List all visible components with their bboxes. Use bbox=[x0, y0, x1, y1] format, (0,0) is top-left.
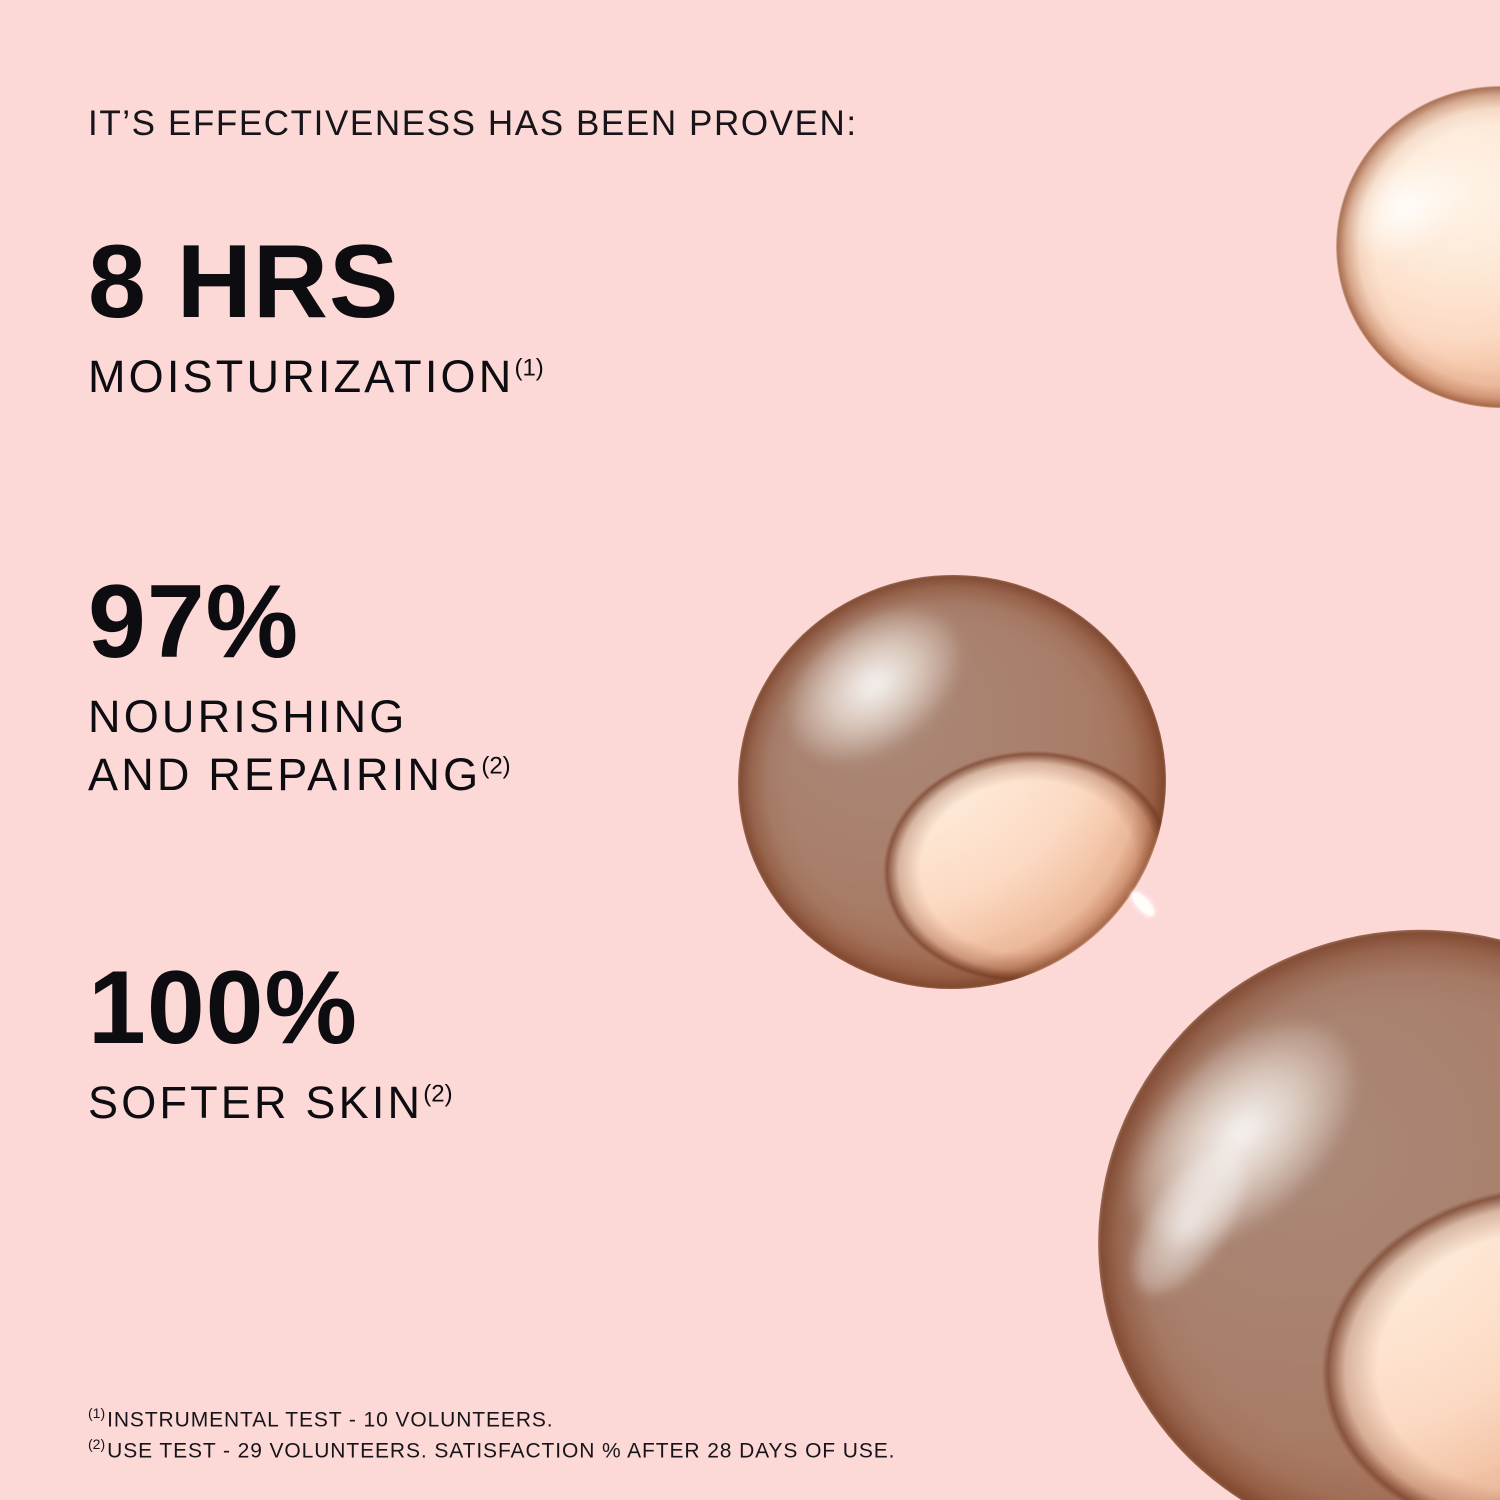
product-claims-poster: IT’S EFFECTIVENESS HAS BEEN PROVEN: 8 HR… bbox=[0, 0, 1500, 1500]
footnote-marker: (1) bbox=[88, 1405, 105, 1421]
stat-reference-marker: (1) bbox=[514, 355, 543, 382]
stat-label-line-1: NOURISHING bbox=[88, 691, 408, 742]
footnote-text: USE TEST - 29 VOLUNTEERS. SATISFACTION %… bbox=[107, 1440, 895, 1463]
footnotes: (1)INSTRUMENTAL TEST - 10 VOLUNTEERS. (2… bbox=[88, 1404, 895, 1467]
footnote-text: INSTRUMENTAL TEST - 10 VOLUNTEERS. bbox=[107, 1409, 553, 1432]
stat-label: NOURISHINGAND REPAIRING(2) bbox=[88, 688, 511, 803]
footnote-line: (1)INSTRUMENTAL TEST - 10 VOLUNTEERS. bbox=[88, 1404, 895, 1435]
stat-value: 8 HRS bbox=[88, 232, 544, 334]
stat-value: 97% bbox=[88, 572, 511, 674]
content-layer: IT’S EFFECTIVENESS HAS BEEN PROVEN: 8 HR… bbox=[0, 0, 1500, 1500]
stat-label-text: MOISTURIZATION bbox=[88, 351, 514, 402]
stat-label: MOISTURIZATION(1) bbox=[88, 348, 544, 406]
stat-block-moisturization: 8 HRS MOISTURIZATION(1) bbox=[88, 232, 544, 406]
stat-label: SOFTER SKIN(2) bbox=[88, 1074, 453, 1132]
stat-block-nourishing: 97% NOURISHINGAND REPAIRING(2) bbox=[88, 572, 511, 803]
stat-label-line-2: AND REPAIRING bbox=[88, 749, 481, 800]
footnote-line: (2)USE TEST - 29 VOLUNTEERS. SATISFACTIO… bbox=[88, 1435, 895, 1466]
stat-label-text: SOFTER SKIN bbox=[88, 1077, 423, 1128]
stat-block-softer-skin: 100% SOFTER SKIN(2) bbox=[88, 958, 453, 1132]
footnote-marker: (2) bbox=[88, 1436, 105, 1452]
page-title: IT’S EFFECTIVENESS HAS BEEN PROVEN: bbox=[88, 104, 858, 144]
stat-value: 100% bbox=[88, 958, 453, 1060]
stat-reference-marker: (2) bbox=[481, 752, 510, 779]
stat-reference-marker: (2) bbox=[423, 1081, 452, 1108]
